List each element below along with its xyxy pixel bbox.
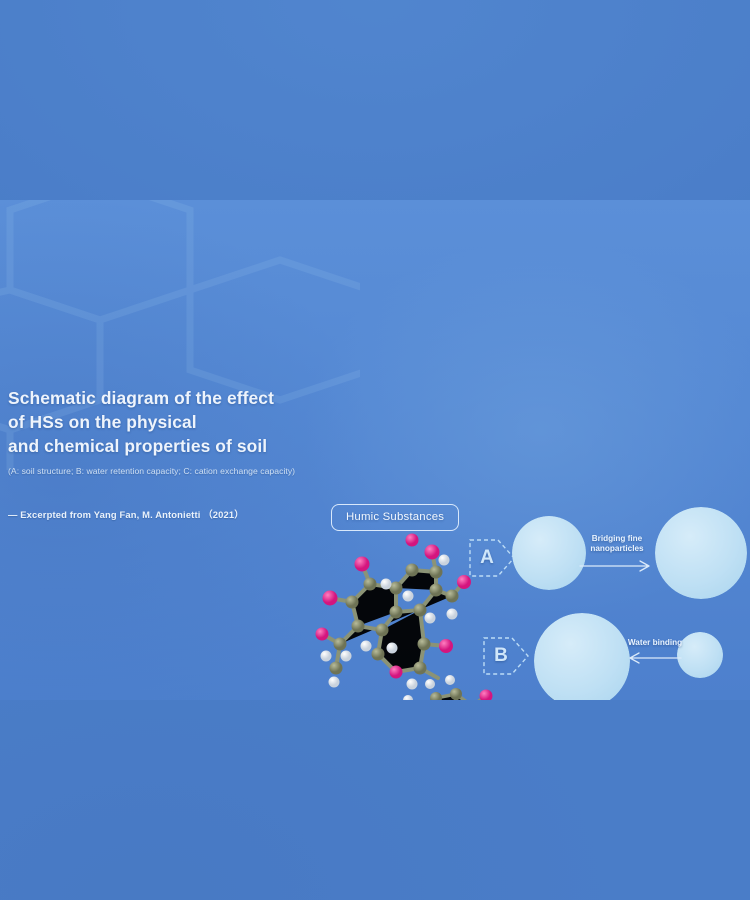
circle-soil-aggregate-loose (512, 516, 586, 590)
source-citation: — Excerpted from Yang Fan, M. Antonietti… (8, 507, 338, 521)
humic-molecule-top-icon (300, 526, 490, 696)
circle-halo (512, 516, 586, 590)
circle-hs-coated-mineral: HSs HSs (534, 613, 630, 700)
humic-substances-label: Humic Substances (331, 504, 459, 531)
headline-line-1: Schematic diagram of the effect (8, 386, 338, 410)
legend-caption: (A: soil structure; B: water retention c… (8, 466, 338, 478)
arrow-left-icon (627, 652, 683, 664)
page-title: Schematic diagram of the effect of HSs o… (8, 386, 338, 459)
connector-a-line-2: nanoparticles (578, 544, 656, 554)
circle-halo (534, 613, 630, 700)
headline-line-2: of HSs on the physical (8, 410, 338, 434)
figure-canvas: Schematic diagram of the effect of HSs o… (0, 0, 750, 900)
connector-a: Bridging fine nanoparticles (578, 534, 656, 577)
circle-hydrated-cation (677, 632, 723, 678)
circle-halo (655, 507, 747, 599)
arrow-right-icon (578, 560, 656, 572)
connector-b-label: Water binding (627, 638, 683, 648)
humic-molecule-bottom-icon (300, 670, 500, 700)
headline-line-3: and chemical properties of soil (8, 434, 338, 458)
circle-soil-aggregate-bridged (655, 507, 747, 599)
circle-halo (677, 632, 723, 678)
badge-letter-a: A (474, 547, 500, 569)
connector-b: Water binding (627, 638, 683, 669)
connector-a-label: Bridging fine nanoparticles (578, 534, 656, 555)
row-badge-b: B (482, 630, 532, 682)
diagram-panel: Schematic diagram of the effect of HSs o… (0, 200, 750, 700)
row-badge-a: A (468, 532, 518, 584)
connector-a-line-1: Bridging fine (578, 534, 656, 544)
badge-letter-b: B (488, 645, 514, 667)
connector-b-line-1: Water binding (627, 638, 683, 648)
caption-block: Schematic diagram of the effect of HSs o… (8, 386, 338, 521)
